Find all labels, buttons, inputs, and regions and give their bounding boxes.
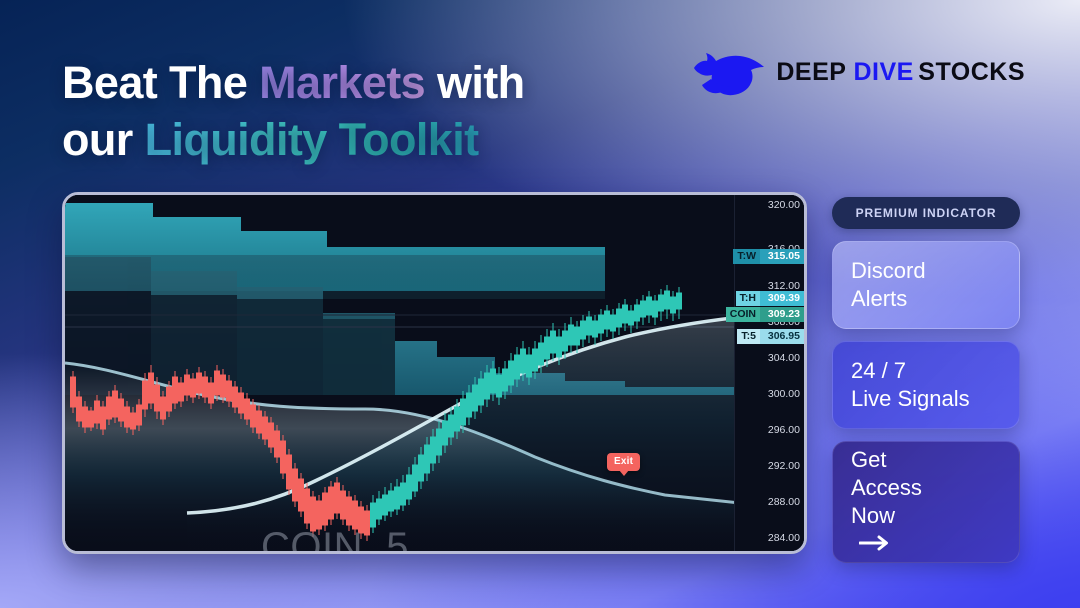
card-access-line-1: Get — [851, 446, 922, 474]
price-tag-value: 315.05 — [760, 249, 804, 264]
brand-logo[interactable]: DEEP DIVE STOCKS — [692, 46, 1025, 98]
price-tick: 284.00 — [768, 532, 800, 544]
dolphin-icon — [692, 46, 766, 98]
price-tag-value: 306.95 — [760, 329, 804, 344]
arrow-right-icon — [859, 530, 893, 558]
card-access-line-2: Access — [851, 474, 922, 502]
card-live-signals[interactable]: 24 / 7 Live Signals — [832, 341, 1020, 429]
status-badge: PREMIUM INDICATOR — [832, 197, 1020, 229]
promo-banner: Beat The Markets with our Liquidity Tool… — [0, 0, 1080, 608]
chart-graphics — [65, 195, 734, 551]
price-tag-value: 309.39 — [760, 291, 804, 306]
logo-word-dive: DIVE — [853, 58, 913, 86]
price-tag-value: 309.23 — [760, 307, 804, 322]
card-signals-text: 24 / 7 Live Signals — [851, 357, 970, 412]
card-access-line-3: Now — [851, 502, 922, 558]
headline-part-with: with — [425, 57, 524, 108]
logo-wordmark: DEEP DIVE STOCKS — [776, 59, 1025, 85]
chart-screenshot-card[interactable]: COIN, 5 Enter Exit 320.00 316.00 312.00 … — [62, 192, 807, 554]
headline-part-markets: Markets — [259, 57, 425, 108]
price-scale[interactable]: 320.00 316.00 312.00 308.00 304.00 300.0… — [734, 195, 804, 551]
price-tag-tw[interactable]: T:W 315.05 — [733, 249, 804, 264]
marker-exit[interactable]: Exit — [607, 453, 640, 471]
headline-part-beat-the: Beat The — [62, 57, 259, 108]
card-signals-line-2: Live Signals — [851, 385, 970, 413]
price-tick: 300.00 — [768, 388, 800, 400]
price-tag-t5[interactable]: T:5 306.95 — [737, 329, 804, 344]
card-discord-alerts[interactable]: Discord Alerts — [832, 241, 1020, 329]
get-access-button[interactable]: Get Access Now — [832, 441, 1020, 563]
logo-word-stocks: STOCKS — [918, 58, 1025, 86]
price-tag-coin[interactable]: COIN 309.23 — [726, 307, 804, 322]
price-tick: 288.00 — [768, 496, 800, 508]
headline-line-1: Beat The Markets with — [62, 55, 722, 112]
chart-plot-area: COIN, 5 Enter Exit — [65, 195, 734, 551]
chart-canvas: COIN, 5 Enter Exit 320.00 316.00 312.00 … — [65, 195, 804, 551]
price-tick: 292.00 — [768, 460, 800, 472]
headline-part-our: our — [62, 114, 145, 165]
card-discord-text: Discord Alerts — [851, 257, 926, 312]
card-discord-line-1: Discord — [851, 257, 926, 285]
price-tick: 320.00 — [768, 199, 800, 211]
price-tag-ticker: T:5 — [737, 329, 760, 344]
price-tag-ticker: COIN — [726, 307, 760, 322]
feature-rail: PREMIUM INDICATOR Discord Alerts 24 / 7 … — [832, 197, 1020, 563]
logo-line-1: DEEP DIVE — [776, 58, 913, 86]
headline-part-liquidity-toolkit: Liquidity Toolkit — [145, 114, 479, 165]
logo-word-deep: DEEP — [776, 58, 853, 86]
card-access-now-label: Now — [851, 502, 922, 530]
card-access-text: Get Access Now — [851, 446, 922, 558]
price-tag-ticker: T:W — [733, 249, 760, 264]
page-title: Beat The Markets with our Liquidity Tool… — [62, 55, 722, 168]
price-tick: 296.00 — [768, 424, 800, 436]
price-tick: 304.00 — [768, 352, 800, 364]
headline-line-2: our Liquidity Toolkit — [62, 112, 722, 169]
price-tag-ticker: T:H — [736, 291, 760, 306]
price-tag-th[interactable]: T:H 309.39 — [736, 291, 804, 306]
card-signals-line-1: 24 / 7 — [851, 357, 970, 385]
card-discord-line-2: Alerts — [851, 285, 926, 313]
